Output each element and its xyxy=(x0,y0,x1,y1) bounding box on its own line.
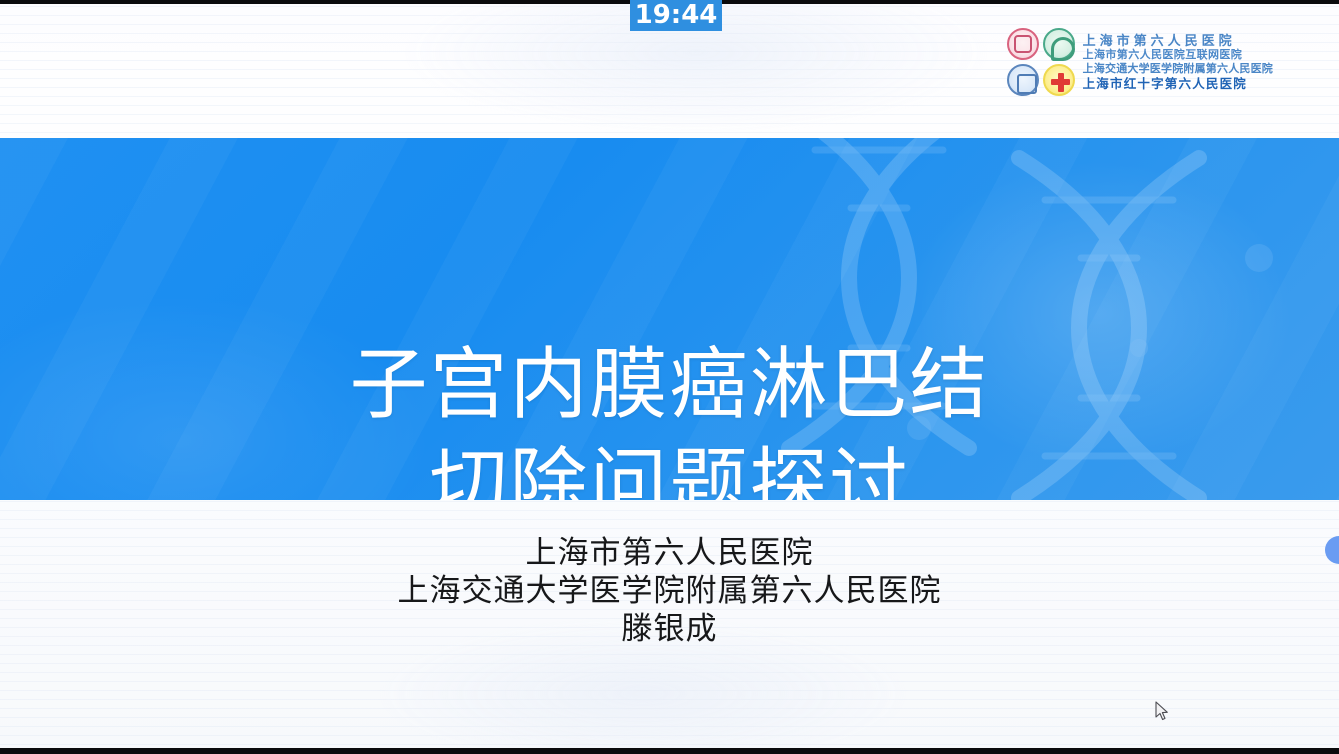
affiliation-line-1: 上海市第六人民医院 xyxy=(0,534,1339,572)
shr-seal-emblem xyxy=(1007,28,1039,60)
hospital-name-line-4: 上海市红十字第六人民医院 xyxy=(1083,76,1273,92)
hospital-name-line-2: 上海市第六人民医院互联网医院 xyxy=(1083,48,1273,62)
slide-title-line-2: 切除问题探讨 xyxy=(0,434,1339,500)
countdown-timer-badge: 19:44 xyxy=(630,0,722,31)
hospital-name-line-3: 上海交通大学医学院附属第六人民医院 xyxy=(1083,62,1273,76)
slide-title-line-1: 子宫内膜癌淋巴结 xyxy=(0,334,1339,434)
slide-title: 子宫内膜癌淋巴结 切除问题探讨 xyxy=(0,334,1339,500)
slide-title-banner: 子宫内膜癌淋巴结 切除问题探讨 xyxy=(0,138,1339,500)
mouse-cursor xyxy=(1155,701,1169,721)
letterbox-bottom-bar xyxy=(0,748,1339,754)
slide-subtitle: 上海市第六人民医院 上海交通大学医学院附属第六人民医院 滕银成 xyxy=(0,534,1339,648)
green-leaf-emblem xyxy=(1043,28,1075,60)
red-cross-emblem xyxy=(1043,64,1075,96)
presentation-viewer: 子宫内膜癌淋巴结 切除问题探讨 上海市第六人民医院 上海交通大学医学院附属第六人… xyxy=(0,0,1339,754)
blue-seal-emblem xyxy=(1007,64,1039,96)
hospital-name-text: 上海市第六人民医院 上海市第六人民医院互联网医院 上海交通大学医学院附属第六人民… xyxy=(1083,33,1273,92)
hospital-emblem-grid xyxy=(1007,28,1075,96)
hospital-name-line-1: 上海市第六人民医院 xyxy=(1083,33,1273,48)
hospital-logo-lockup: 上海市第六人民医院 上海市第六人民医院互联网医院 上海交通大学医学院附属第六人民… xyxy=(1007,28,1273,96)
affiliation-line-2: 上海交通大学医学院附属第六人民医院 xyxy=(0,572,1339,610)
presenter-name: 滕银成 xyxy=(0,610,1339,648)
